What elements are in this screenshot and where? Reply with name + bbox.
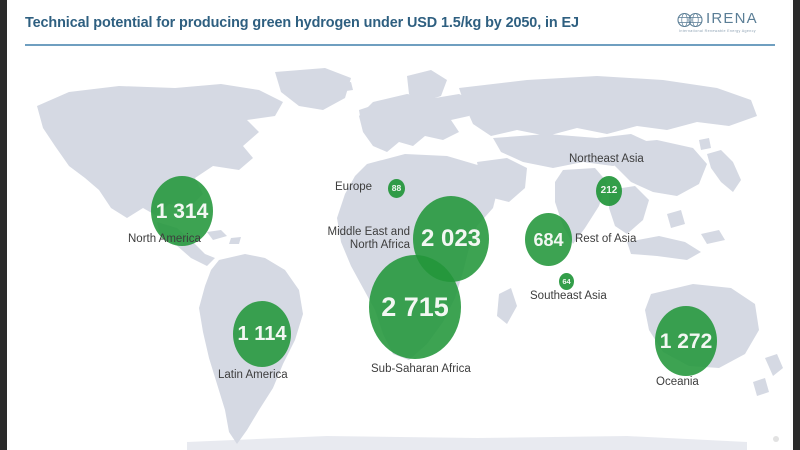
letterbox-right (793, 0, 800, 450)
bubble-oceania[interactable]: 1 272 (655, 306, 717, 376)
world-map: 1 314 North America 1 114 Latin America … (7, 58, 793, 450)
globe-icon (677, 12, 703, 28)
bubble-value-southeast-asia: 64 (562, 278, 570, 286)
label-oceania: Oceania (656, 376, 699, 389)
bubble-value-middle-east-north-africa: 2 023 (421, 227, 481, 251)
corner-artifact (773, 436, 779, 442)
title-divider (25, 44, 775, 46)
label-rest-of-asia: Rest of Asia (575, 233, 636, 246)
label-sub-saharan-africa: Sub-Saharan Africa (371, 363, 471, 376)
label-northeast-asia: Northeast Asia (569, 153, 644, 166)
bubble-europe[interactable]: 88 (388, 179, 405, 198)
page-title: Technical potential for producing green … (25, 15, 579, 31)
bubble-value-oceania: 1 272 (660, 331, 713, 352)
label-north-america: North America (128, 233, 201, 246)
bubble-value-europe: 88 (392, 184, 401, 193)
letterbox-left (0, 0, 7, 450)
bubble-rest-of-asia[interactable]: 684 (525, 213, 572, 266)
bubble-sub-saharan-africa[interactable]: 2 715 (369, 255, 461, 359)
slide: Technical potential for producing green … (7, 0, 793, 450)
irena-logo: IRENA International Renewable Energy Age… (677, 10, 777, 40)
logo-wordmark: IRENA (706, 10, 758, 27)
bubble-value-rest-of-asia: 684 (533, 231, 563, 249)
bubble-northeast-asia[interactable]: 212 (596, 176, 622, 206)
label-latin-america: Latin America (218, 369, 288, 382)
label-southeast-asia: Southeast Asia (530, 290, 607, 303)
bubble-latin-america[interactable]: 1 114 (233, 301, 291, 367)
label-europe: Europe (335, 181, 372, 194)
logo-tagline: International Renewable Energy Agency (679, 29, 756, 33)
bubble-value-sub-saharan-africa: 2 715 (381, 294, 449, 321)
world-map-landmasses (7, 58, 793, 450)
bubble-southeast-asia[interactable]: 64 (559, 273, 574, 290)
label-middle-east-north-africa: Middle East and North Africa (292, 226, 410, 252)
bubble-value-northeast-asia: 212 (601, 186, 618, 196)
slide-header: Technical potential for producing green … (7, 0, 793, 55)
bubble-value-latin-america: 1 114 (238, 324, 287, 344)
label-mena-line2: North Africa (292, 239, 410, 252)
bubble-value-north-america: 1 314 (156, 201, 209, 222)
label-mena-line1: Middle East and (292, 226, 410, 239)
